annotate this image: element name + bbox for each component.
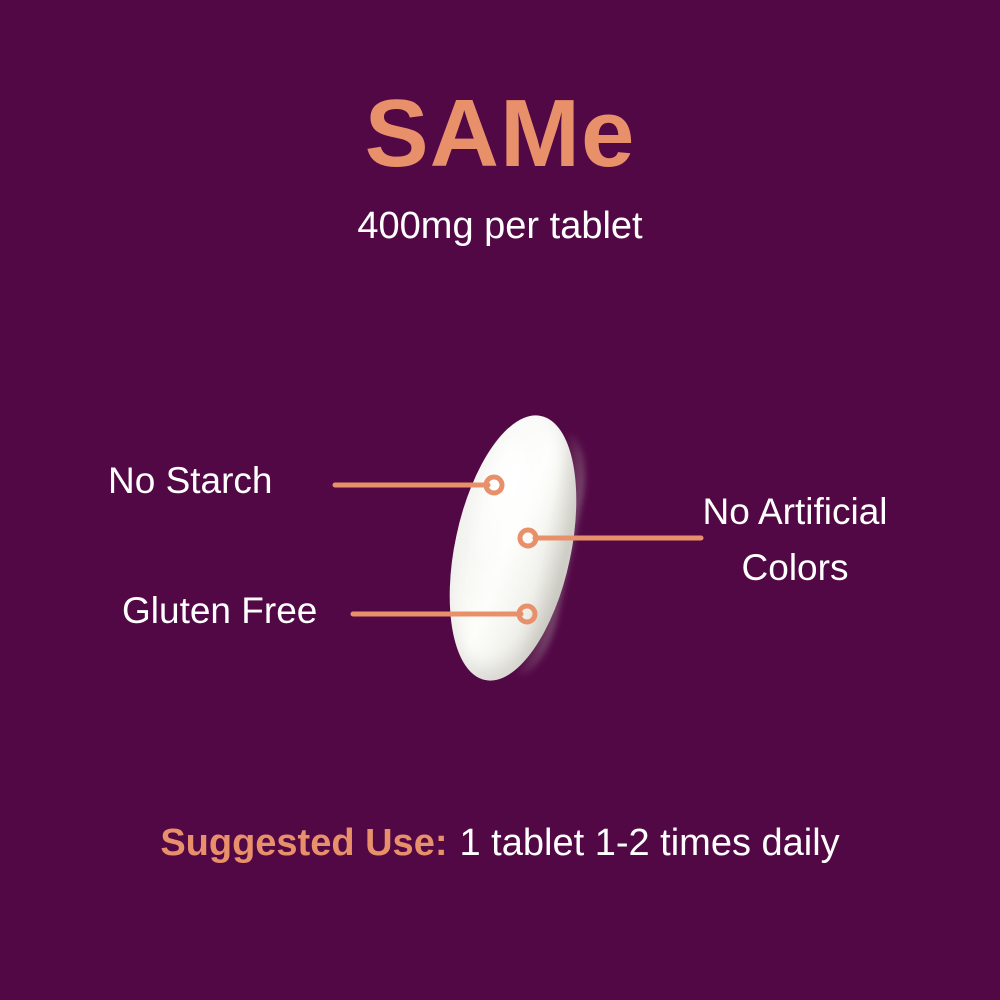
suggested-use-value: 1 tablet 1-2 times daily	[459, 822, 839, 864]
product-infographic: SAMe 400mg per tablet No Starch Gluten F…	[0, 0, 1000, 1000]
callout-connector-gluten-free	[353, 606, 535, 622]
suggested-use-row: Suggested Use:1 tablet 1-2 times daily	[0, 824, 1000, 862]
callout-label-no-artificial-colors: No Artificial Colors	[700, 484, 890, 595]
callout-label-no-starch: No Starch	[108, 462, 273, 499]
suggested-use-label: Suggested Use:	[160, 822, 447, 864]
callout-connector-no-starch	[335, 477, 502, 493]
callout-label-gluten-free: Gluten Free	[122, 592, 317, 629]
callout-connector-no-artificial-colors	[520, 530, 701, 546]
